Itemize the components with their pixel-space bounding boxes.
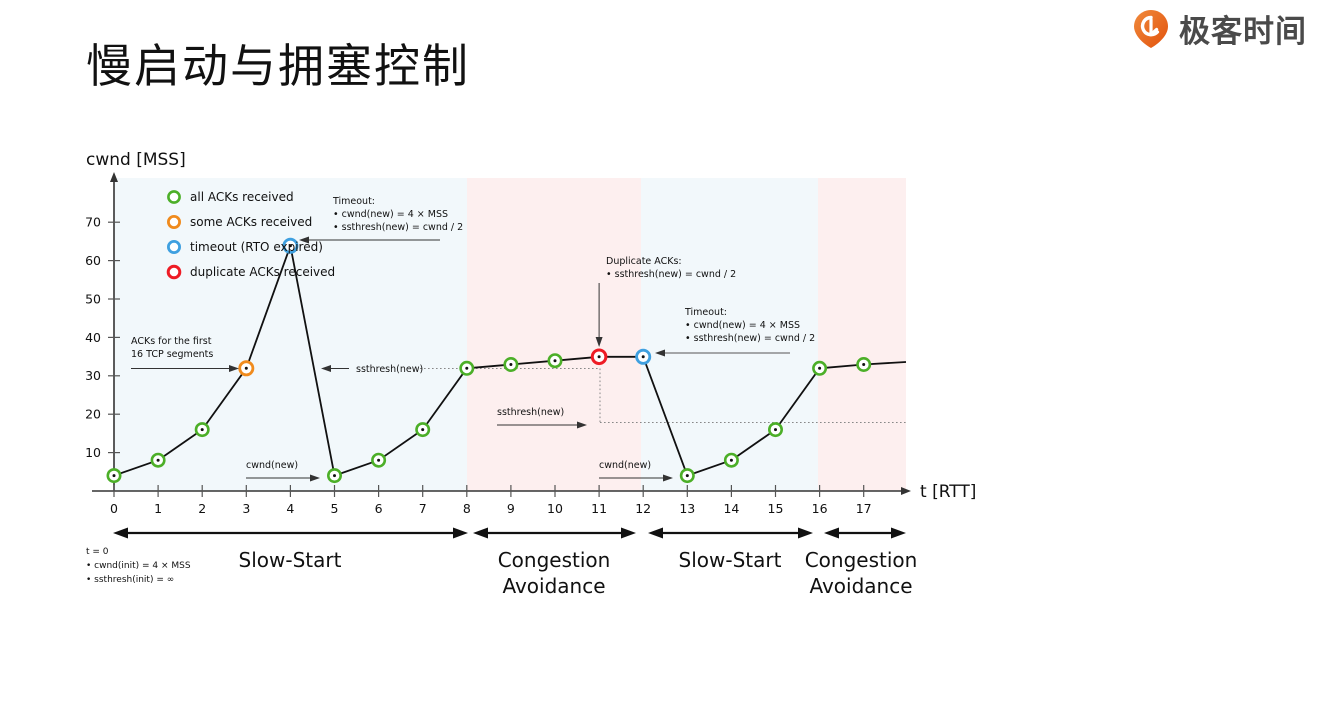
data-point-t2 — [196, 423, 208, 435]
annotation-acks-first-line2: 16 TCP segments — [131, 349, 213, 360]
y-tick-label-50: 50 — [85, 291, 101, 306]
legend-label-all: all ACKs received — [190, 190, 294, 204]
y-tick-label-10: 10 — [85, 445, 101, 460]
x-tick-label-10: 10 — [547, 501, 563, 516]
data-point-t11 — [592, 350, 606, 364]
band-congestion-2 — [818, 178, 906, 491]
y-tick-label-30: 30 — [85, 368, 101, 383]
data-point-t12 — [637, 350, 650, 363]
x-tick-label-9: 9 — [507, 501, 515, 516]
y-tick-label-20: 20 — [85, 407, 101, 422]
x-tick-label-4: 4 — [286, 501, 294, 516]
annotation-acks-first-line1: ACKs for the first — [131, 336, 212, 347]
x-tick-label-17: 17 — [856, 501, 872, 516]
legend-marker-some — [168, 216, 179, 227]
data-point-t9 — [505, 358, 517, 370]
x-axis-title: t [RTT] — [920, 482, 976, 502]
legend-label-timeout: timeout (RTO expired) — [190, 240, 323, 254]
data-point-t0 — [108, 469, 120, 481]
y-tick-label-60: 60 — [85, 253, 101, 268]
x-tick-label-6: 6 — [375, 501, 383, 516]
band-congestion-1 — [467, 178, 641, 491]
legend-marker-timeout — [168, 241, 179, 252]
chart-svg: 10 20 30 40 50 60 70 — [0, 0, 1329, 726]
y-tick-label-70: 70 — [85, 215, 101, 230]
legend-marker-dup — [168, 266, 180, 278]
legend-item-some: some ACKs received — [168, 215, 312, 229]
x-tick-label-13: 13 — [679, 501, 695, 516]
x-tick-label-2: 2 — [198, 501, 206, 516]
phase-label-slow-start-1: Slow-Start — [239, 548, 342, 572]
x-tick-label-0: 0 — [110, 501, 118, 516]
annotation-timeout-1-line3: • ssthresh(new) = cwnd / 2 — [333, 222, 463, 233]
legend-item-dup: duplicate ACKs received — [168, 265, 335, 279]
phase-label-congestion-1-line2: Avoidance — [502, 574, 605, 598]
annotation-timeout-1-line1: Timeout: — [332, 196, 375, 207]
annotation-timeout-1-line2: • cwnd(new) = 4 × MSS — [333, 209, 448, 220]
x-tick-label-1: 1 — [154, 501, 162, 516]
x-tick-label-16: 16 — [812, 501, 828, 516]
annotation-dup-acks-line1: Duplicate ACKs: — [606, 256, 682, 267]
tcp-congestion-chart: 10 20 30 40 50 60 70 — [0, 0, 1329, 726]
x-tick-label-12: 12 — [635, 501, 651, 516]
annotation-cwnd-new-1-label: cwnd(new) — [246, 460, 298, 471]
annotation-cwnd-new-2-label: cwnd(new) — [599, 460, 651, 471]
phase-span-arrows — [113, 528, 906, 539]
x-tick-label-7: 7 — [419, 501, 427, 516]
legend-label-dup: duplicate ACKs received — [190, 265, 335, 279]
data-point-t8 — [461, 362, 473, 374]
data-point-t15 — [769, 423, 781, 435]
data-point-t6 — [372, 454, 384, 466]
phase-label-congestion-1-line1: Congestion — [498, 548, 611, 572]
data-point-t5 — [328, 469, 340, 481]
annotation-timeout-2-line1: Timeout: — [684, 307, 727, 318]
data-point-t13 — [681, 469, 693, 481]
annotation-timeout-2-line2: • cwnd(new) = 4 × MSS — [685, 320, 800, 331]
phase-label-congestion-2-line1: Congestion — [805, 548, 918, 572]
data-point-t16 — [813, 362, 825, 374]
data-point-t7 — [417, 423, 429, 435]
x-tick-label-3: 3 — [242, 501, 250, 516]
x-tick-label-15: 15 — [768, 501, 784, 516]
x-tick-label-8: 8 — [463, 501, 471, 516]
phase-labels: Slow-Start Congestion Avoidance Slow-Sta… — [239, 548, 918, 598]
annotation-ssthresh-new-1-label: ssthresh(new) — [356, 364, 423, 375]
x-tick-label-14: 14 — [723, 501, 739, 516]
footnote-line3: • ssthresh(init) = ∞ — [86, 575, 174, 585]
data-point-t3 — [240, 362, 253, 375]
annotation-timeout-2-line3: • ssthresh(new) = cwnd / 2 — [685, 333, 815, 344]
y-axis-arrow — [110, 172, 118, 182]
data-point-t1 — [152, 454, 164, 466]
annotation-ssthresh-new-2-label: ssthresh(new) — [497, 407, 564, 418]
y-tick-label-40: 40 — [85, 330, 101, 345]
data-point-t14 — [725, 454, 737, 466]
phase-label-congestion-2-line2: Avoidance — [809, 574, 912, 598]
data-point-t10 — [549, 355, 561, 367]
x-tick-label-5: 5 — [331, 501, 339, 516]
legend-marker-all — [168, 191, 179, 202]
phase-label-slow-start-2: Slow-Start — [679, 548, 782, 572]
data-point-t17 — [858, 358, 870, 370]
slide: 极客时间 慢启动与拥塞控制 — [0, 0, 1329, 726]
y-axis-title: cwnd [MSS] — [86, 150, 186, 170]
legend-item-timeout: timeout (RTO expired) — [168, 240, 322, 254]
x-tick-label-11: 11 — [591, 501, 607, 516]
footnote-line2: • cwnd(init) = 4 × MSS — [86, 561, 191, 571]
footnote-line1: t = 0 — [86, 547, 109, 557]
annotation-dup-acks-line2: • ssthresh(new) = cwnd / 2 — [606, 269, 736, 280]
footnote: t = 0 • cwnd(init) = 4 × MSS • ssthresh(… — [86, 547, 191, 585]
legend-label-some: some ACKs received — [190, 215, 312, 229]
